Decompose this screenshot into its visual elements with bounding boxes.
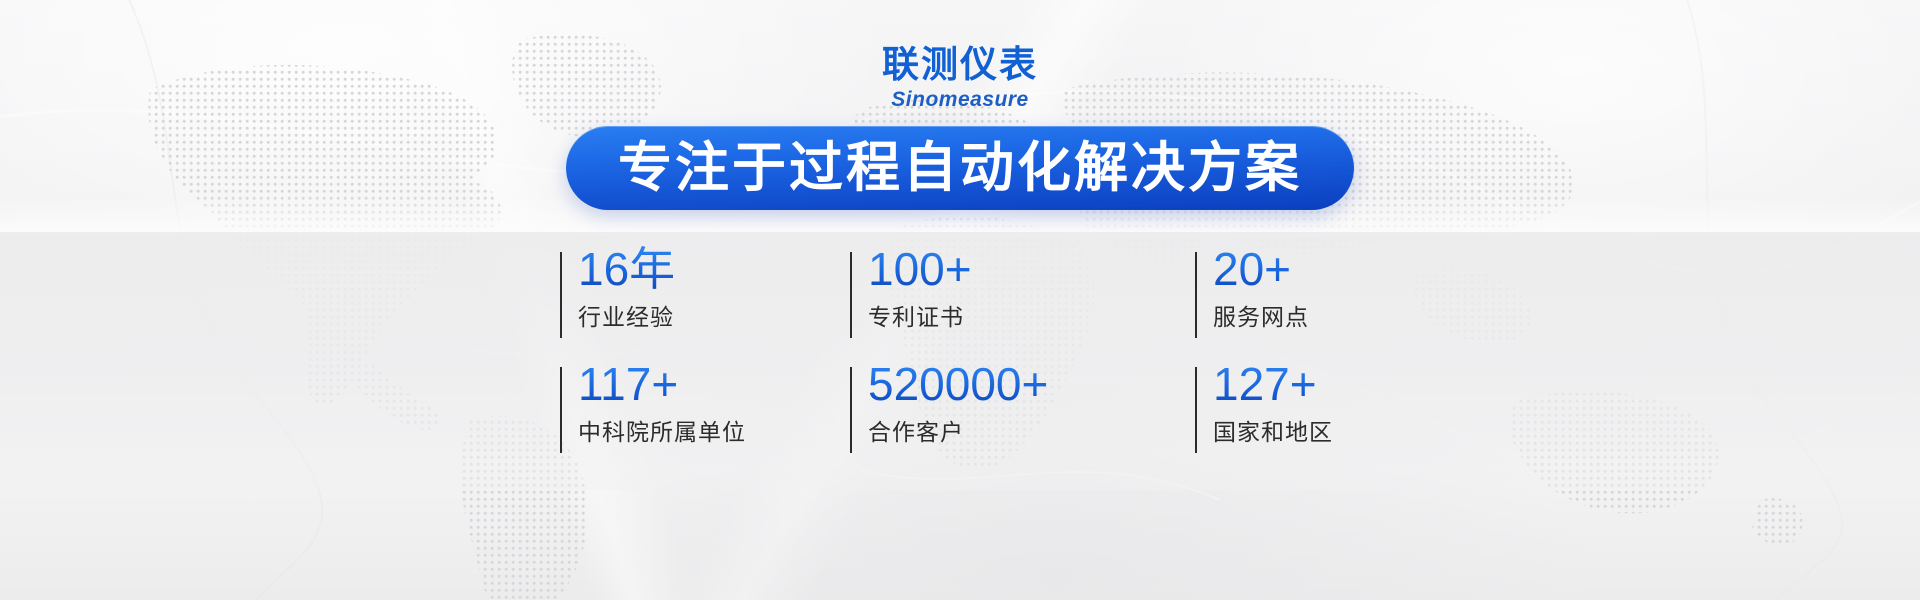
brand-name-cn: 联测仪表 bbox=[0, 46, 1920, 83]
stat-item: 127+ 国家和地区 bbox=[1195, 361, 1360, 476]
stat-label: 行业经验 bbox=[578, 298, 850, 332]
stat-value: 100+ bbox=[868, 246, 1195, 294]
stat-label: 合作客户 bbox=[868, 413, 1195, 447]
stat-item: 100+ 专利证书 bbox=[850, 246, 1195, 361]
stat-value: 16年 bbox=[578, 246, 850, 294]
brand-name-en: Sinomeasure bbox=[0, 89, 1920, 110]
stat-item: 16年 行业经验 bbox=[560, 246, 850, 361]
stat-label: 专利证书 bbox=[868, 298, 1195, 332]
headline-text: 专注于过程自动化解决方案 bbox=[618, 141, 1302, 195]
stat-value: 520000+ bbox=[868, 361, 1195, 409]
brand-logo: 联测仪表 Sinomeasure bbox=[0, 46, 1920, 110]
stat-label: 中科院所属单位 bbox=[578, 413, 850, 447]
stat-item: 520000+ 合作客户 bbox=[850, 361, 1195, 476]
stat-label: 国家和地区 bbox=[1213, 413, 1360, 447]
promo-banner: 联测仪表 Sinomeasure 专注于过程自动化解决方案 16年 行业经验 1… bbox=[0, 0, 1920, 600]
stat-item: 117+ 中科院所属单位 bbox=[560, 361, 850, 476]
headline-pill: 专注于过程自动化解决方案 bbox=[566, 126, 1354, 210]
stats-grid: 16年 行业经验 100+ 专利证书 20+ 服务网点 117+ 中科院所属单位… bbox=[560, 246, 1360, 476]
stat-value: 20+ bbox=[1213, 246, 1360, 294]
stat-value: 127+ bbox=[1213, 361, 1360, 409]
stat-value: 117+ bbox=[578, 361, 850, 409]
stat-item: 20+ 服务网点 bbox=[1195, 246, 1360, 361]
headline-pill-container: 专注于过程自动化解决方案 bbox=[0, 126, 1920, 210]
stat-label: 服务网点 bbox=[1213, 298, 1360, 332]
